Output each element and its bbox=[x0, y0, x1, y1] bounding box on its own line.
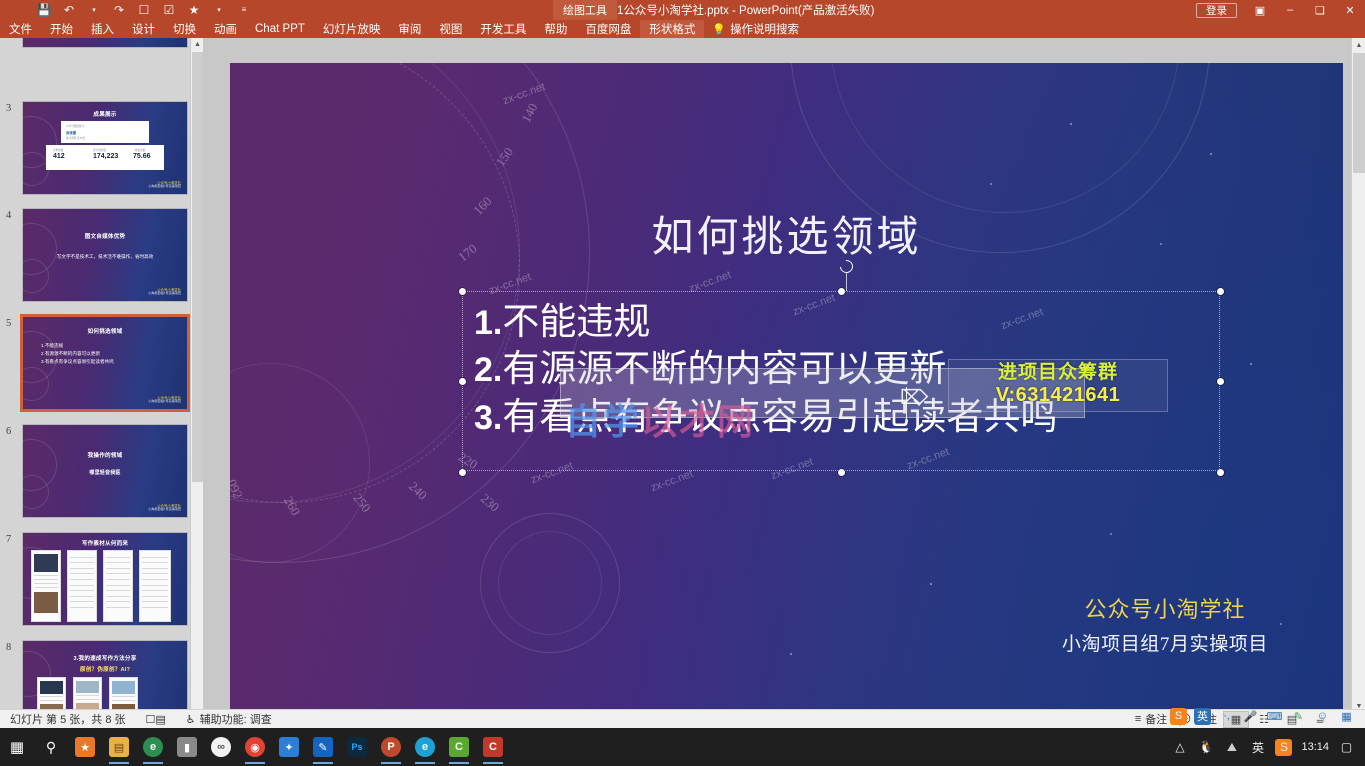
ime-emoji-icon[interactable]: ☺ bbox=[1314, 708, 1331, 725]
ime-toolbox-icon[interactable]: ▦ bbox=[1338, 708, 1355, 725]
sign-in-button[interactable]: 登录 bbox=[1196, 3, 1237, 18]
slide-title[interactable]: 如何挑选领域 bbox=[230, 203, 1343, 264]
taskview-icon[interactable]: ★ bbox=[68, 728, 102, 766]
ribbon-display-options-icon[interactable]: ▣ bbox=[1245, 0, 1275, 20]
slide-indicator[interactable]: 幻灯片 第 5 张，共 8 张 bbox=[6, 711, 130, 728]
body-line-1-number: 1. bbox=[474, 304, 502, 342]
thumb-title: 图文自媒体优势 bbox=[23, 232, 187, 240]
slide-thumbnail-4[interactable]: 图文自媒体优势 写文字不是技术工，技术活不难操作，省时高效 公众号小淘学社 小淘… bbox=[22, 208, 188, 302]
window-controls: 登录 ▣ – ❑ ✕ bbox=[1196, 0, 1365, 20]
slide-thumbnail-2[interactable] bbox=[22, 38, 188, 48]
sogou-tray-icon[interactable]: S bbox=[1275, 739, 1292, 756]
slide-thumbnail-7[interactable]: 写作素材从何而来 bbox=[22, 532, 188, 626]
thumb-title: 我操作的领域 bbox=[23, 451, 187, 459]
tell-me-search[interactable]: 💡 操作说明搜索 bbox=[704, 20, 807, 38]
tab-baidu-netdisk[interactable]: 百度网盘 bbox=[576, 20, 640, 38]
slide-thumbnail-pane[interactable]: 3 成果展示 公众号数据统计 阅读量 统计周期 近30天 文章篇数 412 累计… bbox=[0, 38, 203, 728]
search-icon[interactable]: ⚲ bbox=[34, 728, 68, 766]
accessibility-status[interactable]: ♿ 辅助功能: 调查 bbox=[182, 711, 276, 728]
tab-view[interactable]: 视图 bbox=[430, 20, 471, 38]
promo-overlay: 进项目众筹群 V:631421641 bbox=[948, 359, 1168, 412]
accessibility-icon: ♿ bbox=[186, 713, 196, 726]
ime-keyboard-icon[interactable]: ⌨ bbox=[1266, 708, 1283, 725]
resize-handle-bc[interactable] bbox=[838, 469, 845, 476]
status-bar: 幻灯片 第 5 张，共 8 张 ☐▤ ♿ 辅助功能: 调查 ≡ 备注 💬 批注 … bbox=[0, 709, 1365, 728]
ime-pen-icon[interactable]: ✎ bbox=[1290, 708, 1307, 725]
thumb-footer: 公众号小淘学社 小淘项目组7月实操项目 bbox=[148, 504, 181, 512]
thumb-footer: 公众号小淘学社 小淘项目组7月实操项目 bbox=[148, 396, 181, 404]
ime-punctuation-icon[interactable]: ·, bbox=[1218, 708, 1235, 725]
thumb-card-note: 统计周期 近30天 bbox=[66, 136, 85, 140]
watermark-center: 自学以才网 bbox=[565, 393, 755, 445]
tencent-icon[interactable]: ⛰ bbox=[1223, 739, 1240, 756]
promo-line-2: V:631421641 bbox=[949, 384, 1167, 407]
slide-thumbnail-6[interactable]: 我操作的领域 哪里轻音我医 公众号小淘学社 小淘项目组7月实操项目 bbox=[22, 424, 188, 518]
thumbnail-number-7: 7 bbox=[0, 532, 22, 626]
footer-subtitle: 小淘项目组7月实操项目 bbox=[1062, 629, 1268, 656]
resize-handle-tr[interactable] bbox=[1217, 288, 1224, 295]
thumb-title: 如何挑选领域 bbox=[23, 327, 187, 335]
resize-handle-tl[interactable] bbox=[459, 288, 466, 295]
file-explorer-icon[interactable]: ▤ bbox=[102, 728, 136, 766]
contextual-tab-drawing-tools[interactable]: 绘图工具 bbox=[553, 0, 617, 20]
thumb-stat-value-3: 75.66 bbox=[133, 153, 151, 160]
window-title: 1公众号小淘学社.pptx - PowerPoint(产品激活失败) bbox=[617, 0, 875, 20]
i-beam-cursor: ⌦ bbox=[900, 385, 928, 410]
tab-developer[interactable]: 开发工具 bbox=[471, 20, 535, 38]
redo-icon[interactable]: ↷ bbox=[111, 2, 127, 18]
tab-review[interactable]: 审阅 bbox=[389, 20, 430, 38]
watermark-center-blue: 自学 bbox=[565, 402, 641, 442]
thumbnail-number-4: 4 bbox=[0, 208, 22, 302]
foxmail-app-icon[interactable]: ✦ bbox=[272, 728, 306, 766]
tab-file[interactable]: 文件 bbox=[0, 20, 41, 38]
tab-slideshow[interactable]: 幻灯片放映 bbox=[314, 20, 390, 38]
tab-shape-format[interactable]: 形状格式 bbox=[640, 20, 704, 38]
body-line-1-text: 不能违规 bbox=[502, 302, 650, 343]
thumb-line-3: 3.有看点有争议点容易引起读者共鸣 bbox=[41, 359, 114, 365]
footer-brand: 公众号小淘学社 bbox=[1062, 592, 1268, 624]
ime-voice-icon[interactable]: 🎤 bbox=[1242, 708, 1259, 725]
thumb-stat-caption-1: 文章篇数 bbox=[53, 148, 63, 152]
usb-device-icon[interactable]: ▮ bbox=[170, 728, 204, 766]
scrollbar-thumb[interactable] bbox=[192, 52, 203, 482]
edrawmax-app-icon[interactable]: e bbox=[408, 728, 442, 766]
thumb-line-1: 1.不能违规 bbox=[41, 343, 63, 349]
restore-icon[interactable]: ❑ bbox=[1305, 0, 1335, 20]
thumbnail-scrollbar[interactable]: ▲ ▼ bbox=[190, 38, 203, 728]
thumbnail-number bbox=[0, 38, 22, 48]
taskbar-clock[interactable]: 13:14 bbox=[1301, 741, 1329, 753]
windows-taskbar: ▦ ⚲ ★ ▤ e ▮ ∞ ◉ ✦ ✎ Ps P e C C △ 🐧 ⛰ 英 S… bbox=[0, 728, 1365, 766]
minimize-icon[interactable]: – bbox=[1275, 0, 1305, 20]
chrome-browser-icon[interactable]: ◉ bbox=[238, 728, 272, 766]
thumb-stat-value-2: 174,223 bbox=[93, 153, 118, 160]
system-tray: △ 🐧 ⛰ 英 S 13:14 ▢ bbox=[1171, 728, 1365, 766]
qq-icon[interactable]: 🐧 bbox=[1197, 739, 1214, 756]
tab-insert[interactable]: 插入 bbox=[82, 20, 123, 38]
promo-line-1: 进项目众筹群 bbox=[949, 362, 1167, 384]
thumbnail-number-3: 3 bbox=[0, 101, 22, 195]
thumb-line: 写文字不是技术工，技术活不难操作，省时高效 bbox=[23, 254, 187, 260]
show-hidden-icons[interactable]: △ bbox=[1171, 739, 1188, 756]
wechat-app-icon[interactable]: ∞ bbox=[204, 728, 238, 766]
photoshop-app-icon[interactable]: Ps bbox=[340, 728, 374, 766]
body-line-3-number: 3. bbox=[474, 399, 502, 437]
slide-thumbnail-3[interactable]: 成果展示 公众号数据统计 阅读量 统计周期 近30天 文章篇数 412 累计阅读… bbox=[22, 101, 188, 195]
thumb-stat-caption-2: 累计阅读量 bbox=[93, 148, 106, 152]
customize-qat-icon[interactable]: ≡ bbox=[236, 2, 252, 18]
work-area: 3 成果展示 公众号数据统计 阅读量 统计周期 近30天 文章篇数 412 累计… bbox=[0, 38, 1365, 728]
slide-vertical-scrollbar[interactable]: ▲ ▼ bbox=[1351, 38, 1365, 713]
lightbulb-icon: 💡 bbox=[712, 23, 726, 36]
resize-handle-tc[interactable] bbox=[838, 288, 845, 295]
resize-handle-br[interactable] bbox=[1217, 469, 1224, 476]
thumb-stat-caption-3: 收益金额 bbox=[135, 148, 145, 152]
paint-app-icon[interactable]: ✎ bbox=[306, 728, 340, 766]
chevron-down-icon[interactable]: ▾ bbox=[211, 2, 227, 18]
body-line-1: 1.不能违规 bbox=[474, 299, 1343, 346]
tab-help[interactable]: 帮助 bbox=[535, 20, 576, 38]
ime-language-icon[interactable]: 英 bbox=[1194, 708, 1211, 725]
slide-editing-area[interactable]: 140 150 160 170 220 230 240 250 260 092 bbox=[216, 38, 1365, 728]
close-icon[interactable]: ✕ bbox=[1335, 0, 1365, 20]
sogou-icon[interactable]: S bbox=[1170, 708, 1187, 725]
tab-transitions[interactable]: 切换 bbox=[164, 20, 205, 38]
tab-home[interactable]: 开始 bbox=[41, 20, 82, 38]
accessibility-label: 辅助功能: 调查 bbox=[200, 711, 272, 727]
start-from-beginning-icon[interactable]: ☐ bbox=[136, 2, 152, 18]
thumb-stat-value-1: 412 bbox=[53, 153, 65, 160]
scrollbar-thumb[interactable] bbox=[1353, 53, 1365, 173]
slide-footer: 公众号小淘学社 小淘项目组7月实操项目 bbox=[1062, 592, 1268, 656]
tell-me-label: 操作说明搜索 bbox=[730, 21, 799, 37]
body-line-2-number: 2. bbox=[474, 351, 502, 389]
ime-chinese-icon[interactable]: 英 bbox=[1249, 739, 1266, 756]
thumb-card-caption: 公众号数据统计 bbox=[66, 124, 84, 128]
thumb-footer: 公众号小淘学社 小淘项目组7月实操项目 bbox=[148, 288, 181, 296]
scroll-up-icon[interactable]: ▲ bbox=[1352, 38, 1365, 52]
action-center-icon[interactable]: ▢ bbox=[1338, 739, 1355, 756]
thumb-line: 哪里轻音我医 bbox=[23, 469, 187, 476]
edge-browser-icon[interactable]: e bbox=[136, 728, 170, 766]
undo-icon[interactable]: ↶ bbox=[61, 2, 77, 18]
thumbnail-number-5: 5 bbox=[0, 316, 22, 410]
tab-chat-ppt[interactable]: Chat PPT bbox=[246, 20, 314, 38]
thumb-footer: 公众号小淘学社 小淘项目组7月实操项目 bbox=[148, 181, 181, 189]
thumb-line-2: 2.有源源不断的内容可以更新 bbox=[41, 351, 100, 357]
tab-animations[interactable]: 动画 bbox=[205, 20, 246, 38]
thumb-subtitle: 原创？伪原创？AI? bbox=[23, 665, 187, 673]
quick-access-toolbar: 💾 ↶ ▾ ↷ ☐ ☑ ★ ▾ ≡ bbox=[36, 1, 252, 19]
powerpoint-app-icon[interactable]: P bbox=[374, 728, 408, 766]
rotation-stem bbox=[846, 273, 847, 291]
undo-dropdown-icon[interactable]: ▾ bbox=[86, 2, 102, 18]
ribbon-tab-bar: 文件 开始 插入 设计 切换 动画 Chat PPT 幻灯片放映 审阅 视图 开… bbox=[0, 20, 1365, 38]
camtasia-app-icon[interactable]: C bbox=[442, 728, 476, 766]
slide-thumbnail-5[interactable]: 如何挑选领域 1.不能违规 2.有源源不断的内容可以更新 3.有看点有争议点容易… bbox=[22, 316, 188, 410]
thumb-card-value: 阅读量 bbox=[66, 130, 76, 135]
resize-handle-bl[interactable] bbox=[459, 469, 466, 476]
resize-handle-ml[interactable] bbox=[459, 378, 466, 385]
scroll-up-icon[interactable]: ▲ bbox=[191, 38, 203, 51]
presenter-view-icon[interactable]: ☑ bbox=[161, 2, 177, 18]
sogou-ime-bar[interactable]: S 英 ·, 🎤 ⌨ ✎ ☺ ▦ bbox=[1164, 705, 1361, 727]
current-slide[interactable]: 140 150 160 170 220 230 240 250 260 092 bbox=[230, 63, 1343, 728]
thumbnail-number-6: 6 bbox=[0, 424, 22, 518]
save-icon[interactable]: 💾 bbox=[36, 2, 52, 18]
title-bar: 💾 ↶ ▾ ↷ ☐ ☑ ★ ▾ ≡ 绘图工具 1公众号小淘学社.pptx - P… bbox=[0, 0, 1365, 20]
thumb-title: 3.我的速成写作方法分享 bbox=[23, 654, 187, 662]
tab-design[interactable]: 设计 bbox=[123, 20, 164, 38]
watermark-center-pink: 以才网 bbox=[641, 402, 755, 442]
thumb-title: 成果展示 bbox=[23, 110, 187, 118]
favorite-icon[interactable]: ★ bbox=[186, 2, 202, 18]
status-left-group: 幻灯片 第 5 张，共 8 张 ☐▤ ♿ 辅助功能: 调查 bbox=[0, 711, 276, 728]
start-button[interactable]: ▦ bbox=[0, 728, 34, 766]
notes-icon: ≡ bbox=[1135, 713, 1141, 725]
ccleaner-app-icon[interactable]: C bbox=[476, 728, 510, 766]
language-icon[interactable]: ☐▤ bbox=[142, 711, 170, 728]
thumb-title: 写作素材从何而来 bbox=[23, 539, 187, 547]
